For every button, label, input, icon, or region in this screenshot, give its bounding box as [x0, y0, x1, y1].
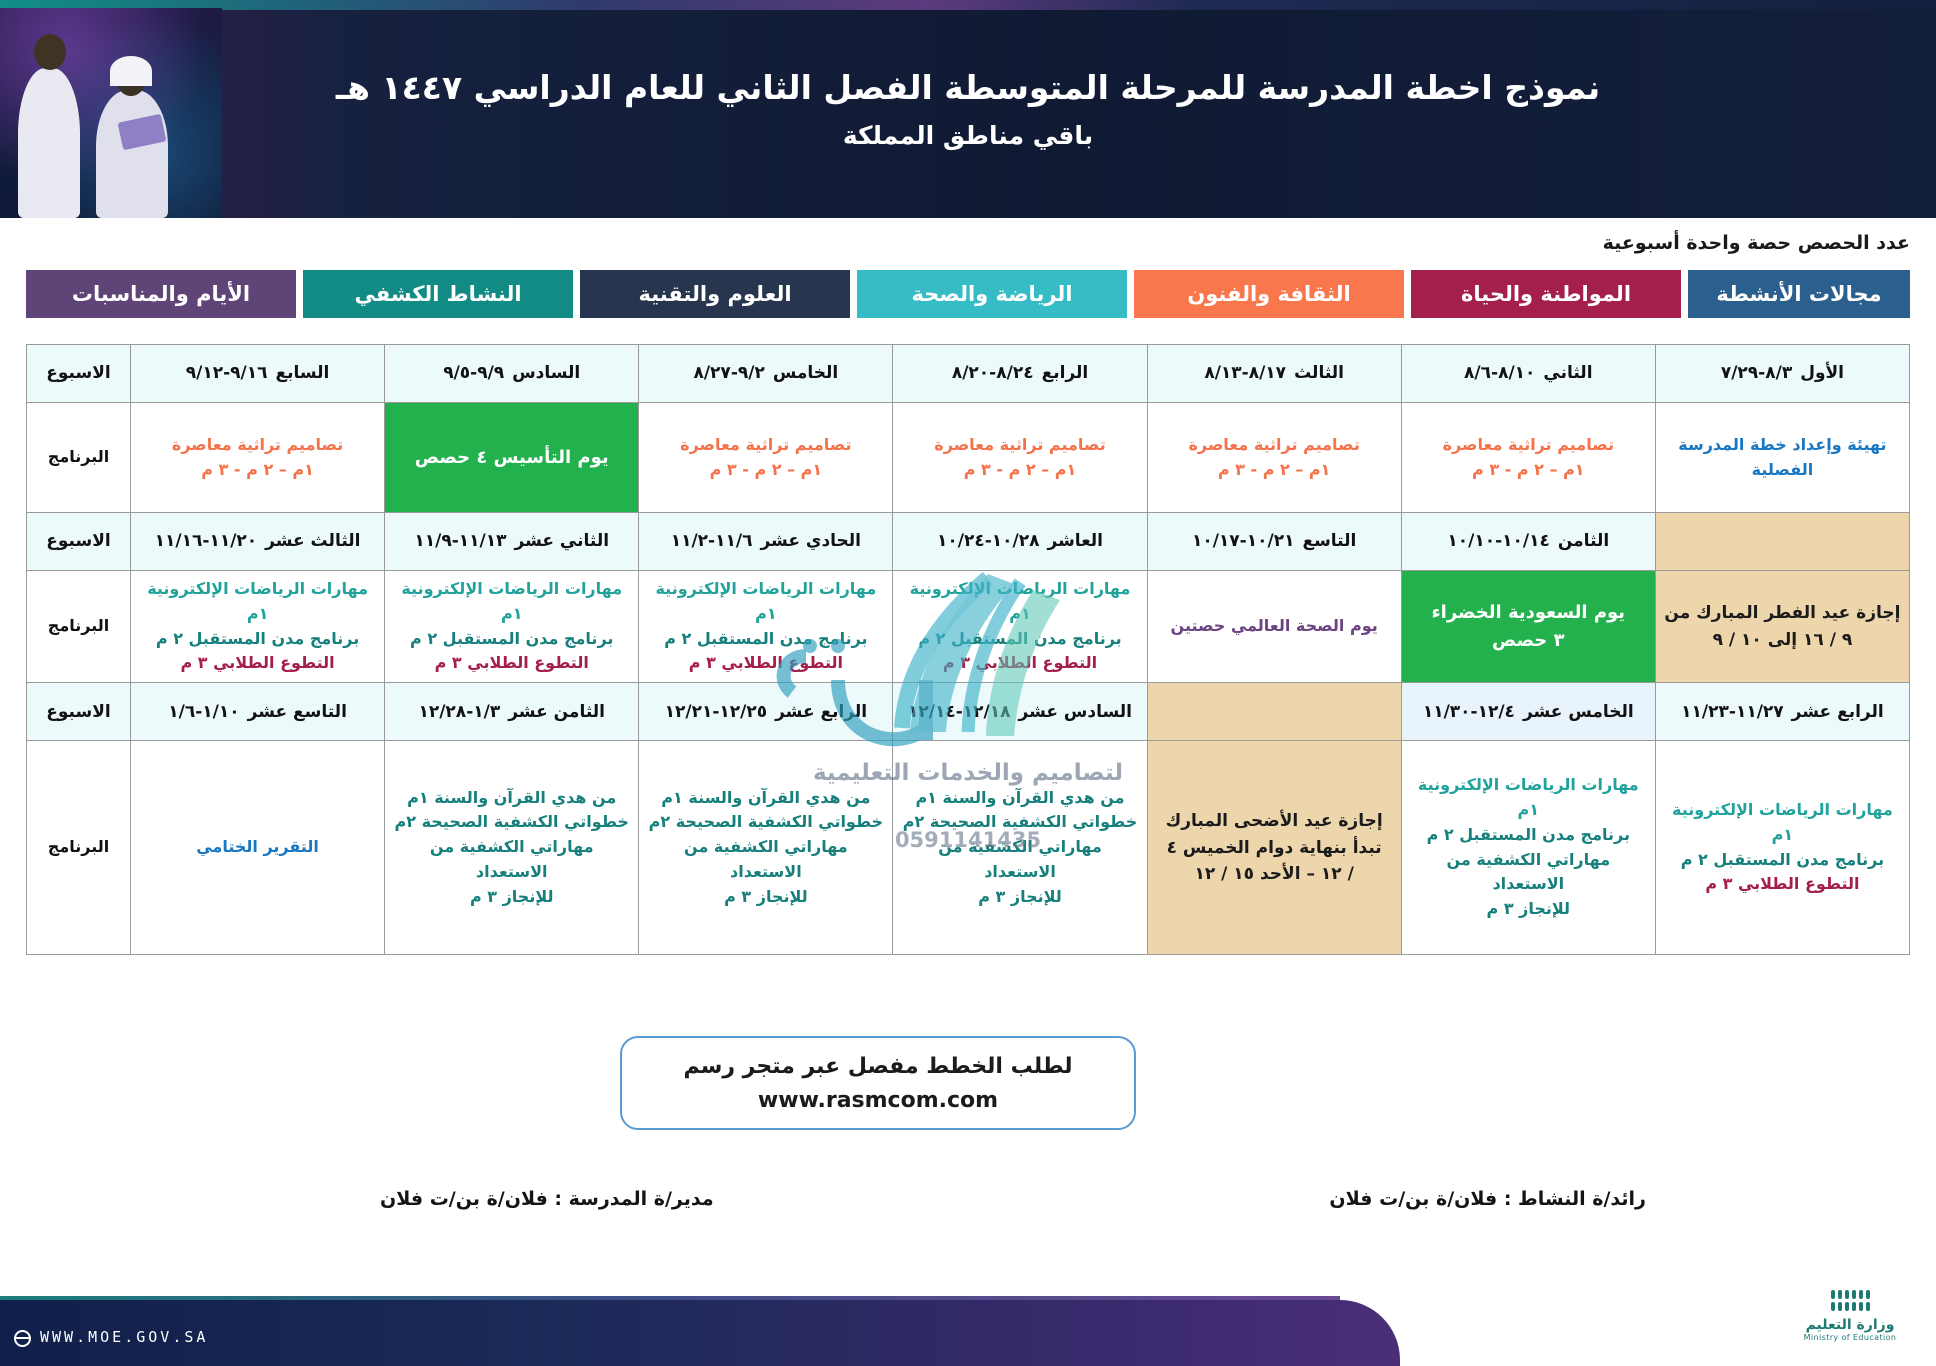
week-cell: الثامن١٠/١٤-١٠/١٠: [1401, 513, 1655, 571]
legend-chip-4: العلوم والتقنية: [580, 270, 850, 318]
week-cell: الخامس عشر١٢/٤-١١/٣٠: [1401, 683, 1655, 741]
page-footer: WWW.MOE.GOV.SA وزارة التعليم Ministry of…: [0, 1236, 1936, 1366]
program-line: مهارات الرياضات الإلكترونية ١م: [900, 577, 1139, 627]
program-line: إجازة عيد الأضحى المبارك: [1155, 808, 1394, 834]
activity-domains-legend: مجالات الأنشطةالمواطنة والحياةالثقافة وا…: [26, 270, 1910, 318]
program-line: يوم الصحة العالمي حصتين: [1155, 614, 1394, 639]
program-line: التطوع الطلابي ٣ م: [900, 651, 1139, 676]
program-line: ١م – ٢ م - ٣ م: [138, 458, 377, 483]
program-line: ١م – ٢ م - ٣ م: [900, 458, 1139, 483]
program-line: مهاراتي الكشفية من الاستعداد: [646, 835, 885, 885]
program-cell: تصاميم تراثية معاصرة١م – ٢ م - ٣ م: [893, 403, 1147, 513]
week-header-row: الثامن١٠/١٤-١٠/١٠التاسع١٠/٢١-١٠/١٧العاشر…: [27, 513, 1910, 571]
program-line: التطوع الطلابي ٣ م: [646, 651, 885, 676]
week-name: الرابع: [1042, 363, 1089, 383]
program-cell: مهارات الرياضات الإلكترونية ١مبرنامج مدن…: [1401, 741, 1655, 955]
program-cell: من هدي القرآن والسنة ١مخطواتي الكشفية ال…: [639, 741, 893, 955]
program-line: للإنجاز ٣ م: [392, 885, 631, 910]
row-label-program: البرنامج: [27, 741, 131, 955]
program-line: التطوع الطلابي ٣ م: [1663, 872, 1902, 897]
week-dates: ١٢/١٨-١٢/١٤: [908, 702, 1011, 722]
page-title: نموذج اخطة المدرسة للمرحلة المتوسطة الفص…: [336, 68, 1600, 107]
row-label-program: البرنامج: [27, 571, 131, 683]
program-cell: مهارات الرياضات الإلكترونية ١مبرنامج مدن…: [131, 571, 385, 683]
rasm-website-link[interactable]: www.rasmcom.com: [758, 1088, 998, 1113]
week-name: الثاني عشر: [515, 531, 610, 551]
program-line: مهارات الرياضات الإلكترونية ١م: [138, 577, 377, 627]
program-line: تصاميم تراثية معاصرة: [1155, 433, 1394, 458]
program-line: مهاراتي الكشفية من الاستعداد: [900, 835, 1139, 885]
week-cell: الرابع٨/٢٤-٨/٢٠: [893, 345, 1147, 403]
program-line: للإنجاز ٣ م: [900, 885, 1139, 910]
program-line: تصاميم تراثية معاصرة: [138, 433, 377, 458]
week-cell: التاسع عشر١/١٠-١/٦: [131, 683, 385, 741]
program-line: التطوع الطلابي ٣ م: [392, 651, 631, 676]
program-line: تبدأ بنهاية دوام الخميس ٤: [1155, 835, 1394, 861]
week-name: الخامس عشر: [1523, 702, 1634, 722]
rasm-callout-text: لطلب الخطط مفصل عبر متجر رسم: [683, 1054, 1072, 1079]
program-line: التطوع الطلابي ٣ م: [138, 651, 377, 676]
week-cell: السادس عشر١٢/١٨-١٢/١٤: [893, 683, 1147, 741]
week-header-row: الأول٨/٣-٧/٢٩الثاني٨/١٠-٨/٦الثالث٨/١٧-٨/…: [27, 345, 1910, 403]
week-cell: الثامن عشر١/٣-١٢/٢٨: [385, 683, 639, 741]
ministry-of-education-logo: وزارة التعليم Ministry of Education: [1790, 1290, 1910, 1342]
program-cell: من هدي القرآن والسنة ١مخطواتي الكشفية ال…: [893, 741, 1147, 955]
week-cell: الرابع عشر١١/٢٧-١١/٢٣: [1655, 683, 1909, 741]
footer-band: [0, 1300, 1400, 1366]
week-name: الرابع عشر: [775, 702, 867, 722]
week-dates: ٨/١٠-٨/٦: [1464, 363, 1535, 383]
program-line: مهارات الرياضات الإلكترونية ١م: [1663, 798, 1902, 848]
school-plan-table: الأول٨/٣-٧/٢٩الثاني٨/١٠-٨/٦الثالث٨/١٧-٨/…: [26, 344, 1910, 955]
legend-chip-3: الرياضة والصحة: [857, 270, 1127, 318]
week-dates: ١١/٢٧-١١/٢٣: [1681, 702, 1784, 722]
signature-activity-leader: رائد/ة النشاط : فلان/ة بن/ت فلان: [1329, 1188, 1646, 1210]
week-name: الثامن عشر: [508, 702, 605, 722]
week-name: الثاني: [1543, 363, 1592, 383]
legend-chip-1: المواطنة والحياة: [1411, 270, 1681, 318]
week-dates: ١١/٦-١١/٢: [671, 531, 753, 551]
week-dates: ٨/٢٤-٨/٢٠: [952, 363, 1034, 383]
week-dates: ٩/١٦-٩/١٢: [186, 363, 268, 383]
week-dates: ١٠/١٤-١٠/١٠: [1447, 531, 1550, 551]
program-line: برنامج مدن المستقبل ٢ م: [1663, 848, 1902, 873]
week-name: الثامن: [1558, 531, 1609, 551]
week-name: الخامس: [773, 363, 838, 383]
week-dates: ١٢/٤-١١/٣٠: [1423, 702, 1515, 722]
week-name: الثالث: [1294, 363, 1344, 383]
program-line: من هدي القرآن والسنة ١م: [900, 786, 1139, 811]
program-line: / ١٢ – الأحد ١٥ / ١٢: [1155, 861, 1394, 887]
program-line: مهارات الرياضات الإلكترونية ١م: [392, 577, 631, 627]
week-name: الأول: [1800, 363, 1844, 383]
program-line: من هدي القرآن والسنة ١م: [646, 786, 885, 811]
banner-title-group: نموذج اخطة المدرسة للمرحلة المتوسطة الفص…: [0, 0, 1936, 218]
week-cell: الرابع عشر١٢/٢٥-١٢/٢١: [639, 683, 893, 741]
program-line: مهاراتي الكشفية من الاستعداد: [392, 835, 631, 885]
program-line: ١م – ٢ م - ٣ م: [1155, 458, 1394, 483]
program-line: تصاميم تراثية معاصرة: [646, 433, 885, 458]
program-cell: تصاميم تراثية معاصرة١م – ٢ م - ٣ م: [1147, 403, 1401, 513]
row-label-week: الاسبوع: [27, 513, 131, 571]
program-cell: مهارات الرياضات الإلكترونية ١مبرنامج مدن…: [893, 571, 1147, 683]
rasm-store-callout[interactable]: لطلب الخطط مفصل عبر متجر رسم www.rasmcom…: [620, 1036, 1136, 1130]
program-cell: مهارات الرياضات الإلكترونية ١مبرنامج مدن…: [639, 571, 893, 683]
program-line: ١م – ٢ م - ٣ م: [646, 458, 885, 483]
week-name: العاشر: [1048, 531, 1103, 551]
legend-chip-5: النشاط الكشفي: [303, 270, 573, 318]
program-line: برنامج مدن المستقبل ٢ م: [1409, 823, 1648, 848]
week-dates: ٩/٩-٩/٥: [443, 363, 504, 383]
week-dates: ١/١٠-١/٦: [168, 702, 239, 722]
legend-chip-6: الأيام والمناسبات: [26, 270, 296, 318]
week-cell: السابع٩/١٦-٩/١٢: [131, 345, 385, 403]
week-dates: ٨/١٧-٨/١٣: [1204, 363, 1286, 383]
program-line: ٣ حصص: [1409, 627, 1648, 655]
program-row: تهيئة وإعداد خطة المدرسة الفصليةتصاميم ت…: [27, 403, 1910, 513]
week-dates: ١٢/٢٥-١٢/٢١: [665, 702, 768, 722]
program-line: مهارات الرياضات الإلكترونية ١م: [1409, 773, 1648, 823]
sessions-note: عدد الحصص حصة واحدة أسبوعية: [1603, 232, 1910, 254]
week-cell: [1147, 683, 1401, 741]
program-cell: التقرير الختامي: [131, 741, 385, 955]
program-cell: تهيئة وإعداد خطة المدرسة الفصلية: [1655, 403, 1909, 513]
legend-chip-2: الثقافة والفنون: [1134, 270, 1404, 318]
week-cell: الأول٨/٣-٧/٢٩: [1655, 345, 1909, 403]
program-cell: مهارات الرياضات الإلكترونية ١مبرنامج مدن…: [1655, 741, 1909, 955]
week-name: الثالث عشر: [265, 531, 360, 551]
program-cell: يوم السعودية الخضراء٣ حصص: [1401, 571, 1655, 683]
legend-chip-0: مجالات الأنشطة: [1688, 270, 1910, 318]
ministry-name-en: Ministry of Education: [1790, 1333, 1910, 1342]
week-dates: ٨/٣-٧/٢٩: [1721, 363, 1792, 383]
program-line: خطواتي الكشفية الصحيحة ٢م: [392, 810, 631, 835]
week-name: التاسع: [1302, 531, 1356, 551]
program-row: إجازة عيد الفطر المبارك من٩ / ١٦ إلى ١٠ …: [27, 571, 1910, 683]
row-label-week: الاسبوع: [27, 345, 131, 403]
program-cell: يوم التأسيس ٤ حصص: [385, 403, 639, 513]
week-cell: العاشر١٠/٢٨-١٠/٢٤: [893, 513, 1147, 571]
logo-dots-icon: [1790, 1290, 1910, 1311]
program-line: يوم السعودية الخضراء: [1409, 599, 1648, 627]
program-line: خطواتي الكشفية الصحيحة ٢م: [646, 810, 885, 835]
program-line: مهاراتي الكشفية من الاستعداد: [1409, 848, 1648, 898]
week-dates: ١١/٢٠-١١/١٦: [155, 531, 258, 551]
program-line: برنامج مدن المستقبل ٢ م: [646, 627, 885, 652]
program-line: ٩ / ١٦ إلى ١٠ / ٩: [1663, 627, 1902, 653]
program-row: مهارات الرياضات الإلكترونية ١مبرنامج مدن…: [27, 741, 1910, 955]
week-cell: التاسع١٠/٢١-١٠/١٧: [1147, 513, 1401, 571]
week-name: الرابع عشر: [1792, 702, 1884, 722]
program-line: برنامج مدن المستقبل ٢ م: [900, 627, 1139, 652]
program-line: تصاميم تراثية معاصرة: [900, 433, 1139, 458]
program-line: من هدي القرآن والسنة ١م: [392, 786, 631, 811]
footer-url[interactable]: WWW.MOE.GOV.SA: [40, 1328, 208, 1346]
program-line: للإنجاز ٣ م: [646, 885, 885, 910]
program-cell: تصاميم تراثية معاصرة١م – ٢ م - ٣ م: [639, 403, 893, 513]
program-line: مهارات الرياضات الإلكترونية ١م: [646, 577, 885, 627]
week-cell: السادس٩/٩-٩/٥: [385, 345, 639, 403]
week-dates: ١/٣-١٢/٢٨: [418, 702, 500, 722]
week-cell: الثالث٨/١٧-٨/١٣: [1147, 345, 1401, 403]
row-label-week: الاسبوع: [27, 683, 131, 741]
program-line: تهيئة وإعداد خطة المدرسة الفصلية: [1663, 433, 1902, 483]
program-cell: من هدي القرآن والسنة ١مخطواتي الكشفية ال…: [385, 741, 639, 955]
program-line: يوم التأسيس ٤ حصص: [392, 444, 631, 472]
program-cell: تصاميم تراثية معاصرة١م – ٢ م - ٣ م: [131, 403, 385, 513]
week-name: السادس عشر: [1019, 702, 1132, 722]
row-label-program: البرنامج: [27, 403, 131, 513]
week-name: السابع: [276, 363, 330, 383]
ministry-name-ar: وزارة التعليم: [1790, 1317, 1910, 1333]
week-dates: ١٠/٢٨-١٠/٢٤: [937, 531, 1040, 551]
program-line: ١م – ٢ م - ٣ م: [1409, 458, 1648, 483]
week-dates: ١١/١٣-١١/٩: [414, 531, 506, 551]
program-line: التقرير الختامي: [138, 835, 377, 860]
week-header-row: الرابع عشر١١/٢٧-١١/٢٣الخامس عشر١٢/٤-١١/٣…: [27, 683, 1910, 741]
header-banner: نموذج اخطة المدرسة للمرحلة المتوسطة الفص…: [0, 0, 1936, 218]
signature-principal: مدير/ة المدرسة : فلان/ة بن/ت فلان: [380, 1188, 714, 1210]
week-cell: الثاني عشر١١/١٣-١١/٩: [385, 513, 639, 571]
week-cell: الثاني٨/١٠-٨/٦: [1401, 345, 1655, 403]
program-line: تصاميم تراثية معاصرة: [1409, 433, 1648, 458]
program-cell: تصاميم تراثية معاصرة١م – ٢ م - ٣ م: [1401, 403, 1655, 513]
week-cell: الثالث عشر١١/٢٠-١١/١٦: [131, 513, 385, 571]
week-name: الحادي عشر: [760, 531, 861, 551]
week-dates: ٩/٢-٨/٢٧: [693, 363, 764, 383]
page-subtitle: باقي مناطق المملكة: [843, 121, 1093, 150]
week-cell: الحادي عشر١١/٦-١١/٢: [639, 513, 893, 571]
globe-icon: [14, 1330, 31, 1347]
week-name: السادس: [512, 363, 580, 383]
program-cell: يوم الصحة العالمي حصتين: [1147, 571, 1401, 683]
program-cell: إجازة عيد الفطر المبارك من٩ / ١٦ إلى ١٠ …: [1655, 571, 1909, 683]
week-dates: ١٠/٢١-١٠/١٧: [1192, 531, 1295, 551]
program-cell: مهارات الرياضات الإلكترونية ١مبرنامج مدن…: [385, 571, 639, 683]
week-cell: [1655, 513, 1909, 571]
program-cell: إجازة عيد الأضحى المباركتبدأ بنهاية دوام…: [1147, 741, 1401, 955]
program-line: إجازة عيد الفطر المبارك من: [1663, 600, 1902, 626]
program-line: برنامج مدن المستقبل ٢ م: [138, 627, 377, 652]
program-line: برنامج مدن المستقبل ٢ م: [392, 627, 631, 652]
week-name: التاسع عشر: [248, 702, 347, 722]
program-line: للإنجاز ٣ م: [1409, 897, 1648, 922]
week-cell: الخامس٩/٢-٨/٢٧: [639, 345, 893, 403]
program-line: خطواتي الكشفية الصحيحة ٢م: [900, 810, 1139, 835]
